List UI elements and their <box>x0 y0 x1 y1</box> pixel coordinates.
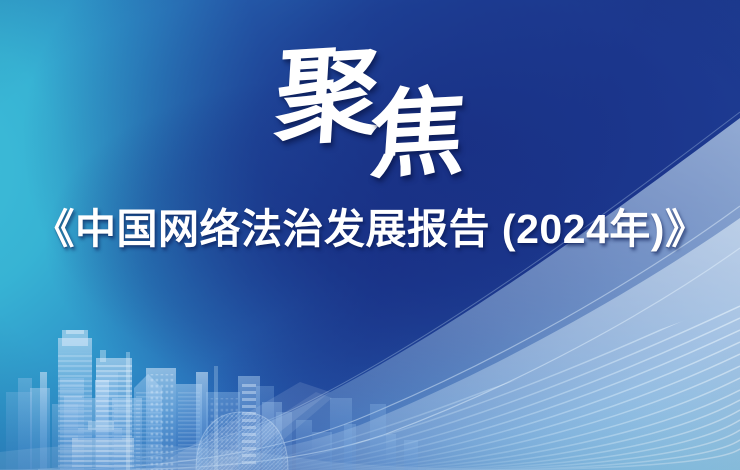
banner-content: 聚 焦 《中国网络法治发展报告 (2024年)》 <box>0 0 740 470</box>
calligraphy-char-ju: 聚 <box>273 41 384 151</box>
report-banner: 聚 焦 《中国网络法治发展报告 (2024年)》 <box>0 0 740 470</box>
page-title: 《中国网络法治发展报告 (2024年)》 <box>0 207 740 253</box>
calligraphy-char-jiao: 焦 <box>366 84 469 185</box>
